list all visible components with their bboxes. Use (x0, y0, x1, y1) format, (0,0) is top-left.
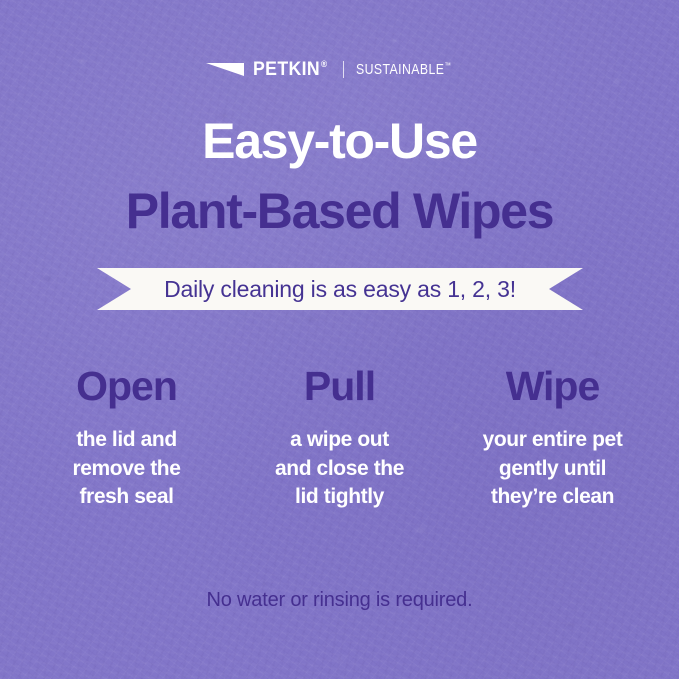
step-line: fresh seal (28, 483, 225, 512)
brand-name: PETKIN® (253, 60, 328, 79)
headline-line-1: Easy-to-Use (0, 116, 679, 166)
step-line: lid tightly (241, 483, 438, 512)
brand-lockup: PETKIN® SUSTAINABLE™ (0, 58, 679, 80)
brand-sub-label: SUSTAINABLE™ (356, 62, 451, 77)
step-line: your entire pet (454, 426, 651, 455)
brand-divider (343, 61, 344, 78)
step-open: Open the lid and remove the fresh seal (28, 366, 225, 512)
trademark-icon: ™ (445, 61, 452, 70)
footer-note: No water or rinsing is required. (0, 590, 679, 610)
product-info-poster: PETKIN® SUSTAINABLE™ Easy-to-Use Plant-B… (0, 0, 679, 679)
step-line: gently until (454, 455, 651, 484)
registered-trademark-icon: ® (321, 59, 328, 69)
step-title: Wipe (454, 366, 651, 407)
step-line: and close the (241, 455, 438, 484)
step-body: the lid and remove the fresh seal (28, 426, 225, 512)
step-line: they’re clean (454, 483, 651, 512)
step-line: a wipe out (241, 426, 438, 455)
headline-line-2: Plant-Based Wipes (0, 186, 679, 236)
step-body: your entire pet gently until they’re cle… (454, 426, 651, 512)
step-body: a wipe out and close the lid tightly (241, 426, 438, 512)
tagline-ribbon-banner: Daily cleaning is as easy as 1, 2, 3! (97, 268, 583, 310)
step-pull: Pull a wipe out and close the lid tightl… (241, 366, 438, 512)
step-line: the lid and (28, 426, 225, 455)
step-line: remove the (28, 455, 225, 484)
tagline-text: Daily cleaning is as easy as 1, 2, 3! (164, 278, 516, 301)
step-title: Open (28, 366, 225, 407)
poster-content: PETKIN® SUSTAINABLE™ Easy-to-Use Plant-B… (0, 0, 679, 679)
petkin-wedge-logo-icon (206, 63, 244, 76)
step-title: Pull (241, 366, 438, 407)
step-wipe: Wipe your entire pet gently until they’r… (454, 366, 651, 512)
steps-row: Open the lid and remove the fresh seal P… (28, 366, 651, 512)
